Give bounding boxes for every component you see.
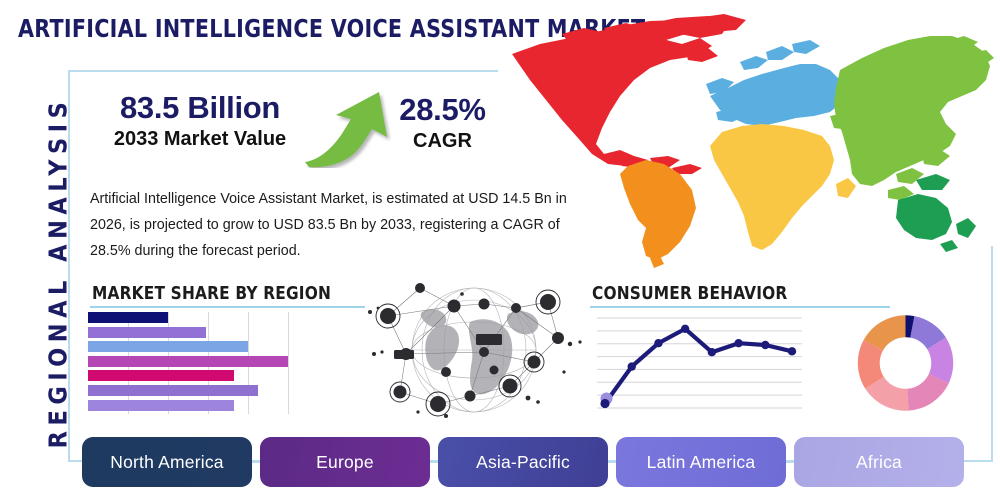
bar-chart-bar — [88, 385, 258, 396]
stat-market-value: 83.5 Billion 2033 Market Value — [95, 92, 305, 151]
market-value-label: 2033 Market Value — [95, 127, 305, 151]
region-button-asia-pacific[interactable]: Asia-Pacific — [438, 437, 608, 487]
map-region-europe — [706, 40, 844, 126]
bar-chart-bar — [88, 341, 248, 352]
region-button-connector — [252, 461, 260, 463]
network-globe-icon — [358, 276, 590, 424]
section-header-consumer-behavior: CONSUMER BEHAVIOR — [592, 283, 787, 304]
cagr-label: CAGR — [380, 129, 505, 153]
region-button-label: Africa — [856, 452, 902, 473]
stat-cagr: 28.5% CAGR — [380, 94, 505, 153]
line-chart-marker — [708, 348, 716, 356]
consumer-behavior-donut-chart — [853, 308, 958, 418]
line-chart-marker — [600, 399, 609, 408]
bar-chart-bar — [88, 327, 206, 338]
region-button-europe[interactable]: Europe — [260, 437, 430, 487]
region-button-label: Asia-Pacific — [476, 452, 570, 473]
market-value-number: 83.5 Billion — [95, 92, 305, 125]
frame-top-line — [68, 70, 498, 72]
line-chart-marker — [654, 339, 662, 347]
region-buttons-row: North AmericaEuropeAsia-PacificLatin Ame… — [82, 437, 990, 487]
cagr-number: 28.5% — [380, 94, 505, 127]
region-button-connector — [430, 461, 438, 463]
region-button-connector — [608, 461, 616, 463]
bar-chart-bar — [88, 356, 288, 367]
bar-chart-bar — [88, 370, 234, 381]
market-share-bar-chart — [88, 312, 288, 414]
region-button-connector — [786, 461, 794, 463]
key-stats-row: 83.5 Billion 2033 Market Value 28.5% CAG… — [85, 92, 505, 170]
line-chart-marker — [628, 362, 636, 370]
section-header-market-share: MARKET SHARE BY REGION — [92, 283, 331, 304]
map-region-oceania — [896, 174, 976, 252]
bar-chart-gridline — [288, 312, 289, 414]
map-region-asia — [830, 36, 994, 200]
frame-left-line — [68, 70, 70, 462]
map-region-north-america — [512, 14, 746, 174]
map-region-south-america — [620, 160, 696, 268]
consumer-behavior-line-chart — [597, 310, 802, 418]
region-button-label: North America — [110, 452, 223, 473]
section-rule-consumer-behavior — [590, 306, 890, 308]
map-region-africa — [710, 124, 856, 250]
section-rule-market-share — [90, 306, 365, 308]
frame-right-line — [991, 246, 993, 462]
region-button-label: Latin America — [647, 452, 756, 473]
region-button-north-america[interactable]: North America — [82, 437, 252, 487]
region-button-label: Europe — [316, 452, 374, 473]
world-map-icon — [500, 8, 995, 270]
region-button-africa[interactable]: Africa — [794, 437, 964, 487]
line-chart-marker — [761, 341, 769, 349]
bar-chart-bar — [88, 312, 168, 323]
line-chart-marker — [788, 347, 796, 355]
bar-chart-bar — [88, 400, 234, 411]
region-button-latin-america[interactable]: Latin America — [616, 437, 786, 487]
line-chart-marker — [734, 339, 742, 347]
line-chart-marker — [681, 325, 689, 333]
